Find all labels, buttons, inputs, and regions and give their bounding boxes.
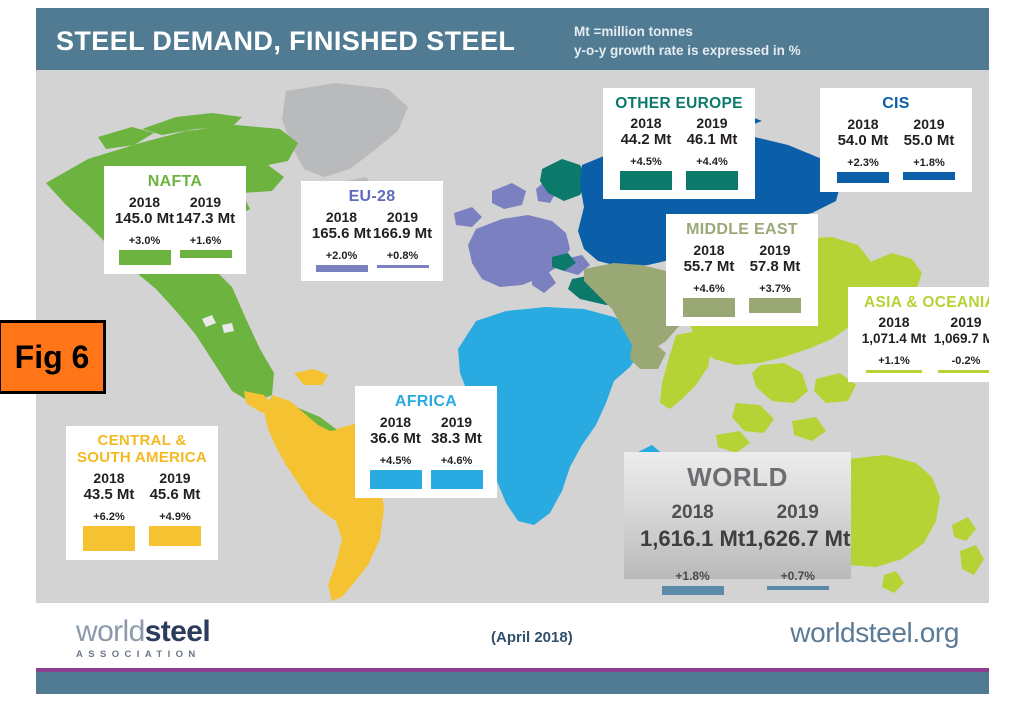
value-label: 55.0 Mt bbox=[896, 132, 962, 150]
callout-title: MIDDLE EAST bbox=[676, 221, 808, 239]
value-label: 1,071.4 Mt bbox=[858, 330, 930, 348]
slide-panel: STEEL DEMAND, FINISHED STEEL Mt =million… bbox=[36, 8, 989, 668]
callout-other-europe: OTHER EUROPE 2018 44.2 Mt +4.5% 2019 46.… bbox=[603, 88, 755, 199]
growth-label: +6.2% bbox=[76, 511, 142, 524]
growth-bar bbox=[119, 250, 171, 265]
year-label: 2018 bbox=[640, 501, 745, 525]
header-note-line1: Mt =million tonnes bbox=[574, 22, 801, 41]
callout-col-2018: 2018 36.6 Mt +4.5% bbox=[365, 414, 426, 489]
growth-bar bbox=[180, 250, 232, 258]
value-label: 145.0 Mt bbox=[114, 210, 175, 228]
value-label: 55.7 Mt bbox=[676, 258, 742, 276]
growth-label: +4.4% bbox=[679, 156, 745, 169]
year-label: 2019 bbox=[679, 115, 745, 131]
figure-tag: Fig 6 bbox=[0, 320, 106, 394]
year-label: 2018 bbox=[114, 194, 175, 210]
growth-label: +1.8% bbox=[896, 157, 962, 170]
callout-title: OTHER EUROPE bbox=[613, 95, 745, 112]
callout-col-2019: 2019 1,626.7 Mt +0.7% bbox=[745, 501, 850, 595]
callout-title: ASIA & OCEANIA bbox=[858, 294, 989, 311]
figure-steel-demand: STEEL DEMAND, FINISHED STEEL Mt =million… bbox=[0, 0, 1025, 702]
growth-label: +4.6% bbox=[426, 455, 487, 468]
year-label: 2019 bbox=[372, 209, 433, 225]
value-label: 1,616.1 Mt bbox=[640, 525, 745, 553]
growth-bar bbox=[767, 586, 829, 590]
growth-bar bbox=[903, 172, 955, 180]
callout-title: NAFTA bbox=[114, 173, 236, 191]
figure-tag-label: Fig 6 bbox=[15, 339, 90, 376]
callout-col-2019: 2019 55.0 Mt +1.8% bbox=[896, 116, 962, 183]
year-label: 2018 bbox=[830, 116, 896, 132]
value-label: 44.2 Mt bbox=[613, 131, 679, 149]
growth-bar bbox=[431, 470, 483, 489]
map-region-nafta bbox=[46, 113, 336, 445]
year-label: 2019 bbox=[742, 242, 808, 258]
callout-col-2018: 2018 54.0 Mt +2.3% bbox=[830, 116, 896, 183]
year-label: 2019 bbox=[896, 116, 962, 132]
growth-bar bbox=[662, 586, 724, 595]
callout-col-2019: 2019 45.6 Mt +4.9% bbox=[142, 470, 208, 551]
growth-label: +2.3% bbox=[830, 157, 896, 170]
growth-bar bbox=[866, 370, 922, 373]
header-note-line2: y-o-y growth rate is expressed in % bbox=[574, 41, 801, 60]
year-label: 2018 bbox=[76, 470, 142, 486]
callout-cis: CIS 2018 54.0 Mt +2.3% 2019 55.0 Mt +1.8… bbox=[820, 88, 972, 192]
callout-africa: AFRICA 2018 36.6 Mt +4.5% 2019 38.3 Mt +… bbox=[355, 386, 497, 498]
worldsteel-logo: worldsteel ASSOCIATION bbox=[76, 617, 210, 660]
publication-date: (April 2018) bbox=[491, 629, 573, 646]
growth-label: +4.6% bbox=[676, 283, 742, 296]
year-label: 2019 bbox=[745, 501, 850, 525]
year-label: 2018 bbox=[613, 115, 679, 131]
value-label: 147.3 Mt bbox=[175, 210, 236, 228]
year-label: 2018 bbox=[311, 209, 372, 225]
growth-bar bbox=[749, 298, 801, 313]
growth-label: -0.2% bbox=[930, 355, 989, 368]
value-label: 46.1 Mt bbox=[679, 131, 745, 149]
logo-word-steel: steel bbox=[145, 615, 210, 648]
callout-eu28: EU-28 2018 165.6 Mt +2.0% 2019 166.9 Mt … bbox=[301, 181, 443, 281]
growth-bar bbox=[686, 171, 738, 190]
callout-col-2018: 2018 1,616.1 Mt +1.8% bbox=[640, 501, 745, 595]
value-label: 54.0 Mt bbox=[830, 132, 896, 150]
callout-col-2019: 2019 147.3 Mt +1.6% bbox=[175, 194, 236, 265]
value-label: 165.6 Mt bbox=[311, 225, 372, 243]
accent-rule-teal bbox=[36, 672, 989, 694]
year-label: 2018 bbox=[365, 414, 426, 430]
page-title: STEEL DEMAND, FINISHED STEEL bbox=[56, 26, 515, 57]
callout-col-2019: 2019 46.1 Mt +4.4% bbox=[679, 115, 745, 190]
growth-bar bbox=[149, 526, 201, 546]
growth-label: +1.6% bbox=[175, 235, 236, 248]
growth-bar bbox=[938, 370, 989, 373]
callout-title: EU-28 bbox=[311, 188, 433, 206]
value-label: 166.9 Mt bbox=[372, 225, 433, 243]
growth-bar bbox=[83, 526, 135, 551]
callout-col-2019: 2019 1,069.7 Mt -0.2% bbox=[930, 314, 989, 373]
year-label: 2019 bbox=[426, 414, 487, 430]
growth-label: +1.1% bbox=[858, 355, 930, 368]
header-note: Mt =million tonnes y-o-y growth rate is … bbox=[574, 22, 801, 60]
growth-label: +3.7% bbox=[742, 283, 808, 296]
logo-word-world: world bbox=[76, 615, 145, 648]
growth-label: +0.7% bbox=[745, 569, 850, 583]
year-label: 2019 bbox=[930, 314, 989, 330]
callout-col-2019: 2019 57.8 Mt +3.7% bbox=[742, 242, 808, 317]
callout-world: WORLD 2018 1,616.1 Mt +1.8% 2019 1,626.7… bbox=[624, 452, 851, 579]
callout-asia-oceania: ASIA & OCEANIA 2018 1,071.4 Mt +1.1% 201… bbox=[848, 287, 989, 382]
growth-label: +4.9% bbox=[142, 511, 208, 524]
growth-label: +4.5% bbox=[365, 455, 426, 468]
growth-label: +2.0% bbox=[311, 250, 372, 263]
value-label: 1,626.7 Mt bbox=[745, 525, 850, 553]
callout-middle-east: MIDDLE EAST 2018 55.7 Mt +4.6% 2019 57.8… bbox=[666, 214, 818, 326]
value-label: 36.6 Mt bbox=[365, 430, 426, 448]
footer-band: worldsteel ASSOCIATION (April 2018) worl… bbox=[36, 603, 989, 668]
value-label: 45.6 Mt bbox=[142, 486, 208, 504]
callout-title: AFRICA bbox=[365, 393, 487, 411]
value-label: 38.3 Mt bbox=[426, 430, 487, 448]
year-label: 2019 bbox=[142, 470, 208, 486]
callout-central-south-america: CENTRAL & SOUTH AMERICA 2018 43.5 Mt +6.… bbox=[66, 426, 218, 560]
growth-bar bbox=[683, 298, 735, 317]
callout-col-2018: 2018 165.6 Mt +2.0% bbox=[311, 209, 372, 272]
year-label: 2018 bbox=[676, 242, 742, 258]
growth-bar bbox=[316, 265, 368, 272]
growth-bar bbox=[377, 265, 429, 268]
growth-bar bbox=[837, 172, 889, 183]
callout-col-2018: 2018 145.0 Mt +3.0% bbox=[114, 194, 175, 265]
callout-col-2018: 2018 1,071.4 Mt +1.1% bbox=[858, 314, 930, 373]
year-label: 2018 bbox=[858, 314, 930, 330]
growth-label: +4.5% bbox=[613, 156, 679, 169]
callout-col-2018: 2018 44.2 Mt +4.5% bbox=[613, 115, 679, 190]
callout-col-2018: 2018 43.5 Mt +6.2% bbox=[76, 470, 142, 551]
growth-bar bbox=[620, 171, 672, 190]
year-label: 2019 bbox=[175, 194, 236, 210]
callout-title: CIS bbox=[830, 95, 962, 113]
callout-col-2019: 2019 166.9 Mt +0.8% bbox=[372, 209, 433, 272]
logo-subtitle: ASSOCIATION bbox=[76, 649, 210, 660]
world-map: NAFTA 2018 145.0 Mt +3.0% 2019 147.3 Mt … bbox=[36, 73, 989, 603]
callout-col-2019: 2019 38.3 Mt +4.6% bbox=[426, 414, 487, 489]
worldsteel-url[interactable]: worldsteel.org bbox=[790, 617, 959, 649]
callout-nafta: NAFTA 2018 145.0 Mt +3.0% 2019 147.3 Mt … bbox=[104, 166, 246, 274]
callout-title: CENTRAL & SOUTH AMERICA bbox=[76, 433, 208, 467]
callout-col-2018: 2018 55.7 Mt +4.6% bbox=[676, 242, 742, 317]
growth-label: +1.8% bbox=[640, 569, 745, 583]
header-band: STEEL DEMAND, FINISHED STEEL Mt =million… bbox=[36, 8, 989, 70]
value-label: 57.8 Mt bbox=[742, 258, 808, 276]
growth-bar bbox=[370, 470, 422, 489]
value-label: 1,069.7 Mt bbox=[930, 330, 989, 348]
growth-label: +0.8% bbox=[372, 250, 433, 263]
growth-label: +3.0% bbox=[114, 235, 175, 248]
value-label: 43.5 Mt bbox=[76, 486, 142, 504]
callout-title: WORLD bbox=[640, 462, 835, 493]
